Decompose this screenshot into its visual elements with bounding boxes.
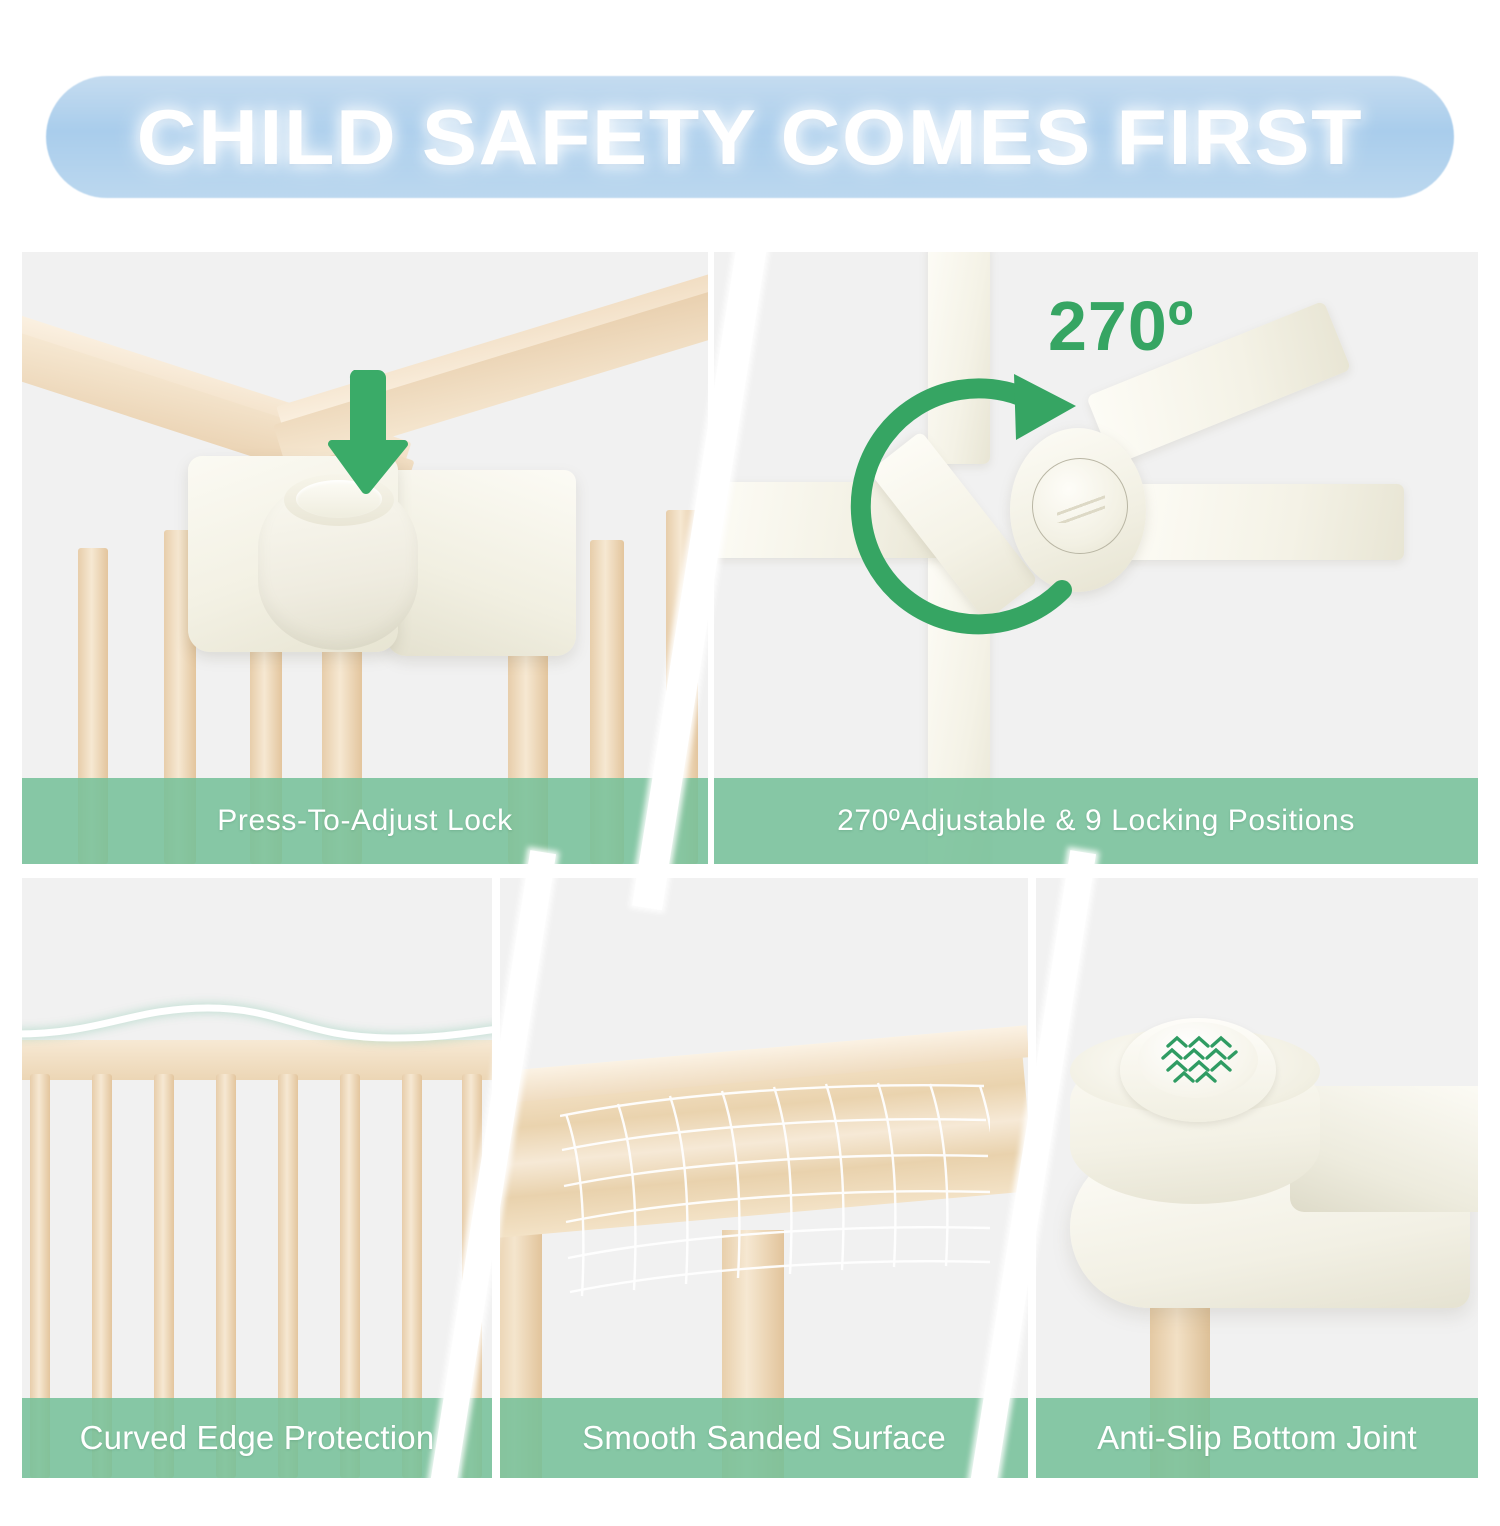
caption-text: Anti-Slip Bottom Joint	[1097, 1419, 1417, 1457]
caption-text: Press-To-Adjust Lock	[217, 804, 512, 838]
feature-row-bottom: Curved Edge Protection	[0, 878, 1500, 1478]
feature-panel-anti-slip-bottom-joint[interactable]: Anti-Slip Bottom Joint	[1036, 878, 1478, 1478]
panel-caption: Press-To-Adjust Lock	[22, 778, 708, 864]
panel-caption: Curved Edge Protection	[22, 1398, 492, 1478]
feature-panel-270-adjustable[interactable]: 270º 270ºAdjustable & 9 Locking Position…	[714, 252, 1478, 864]
degree-callout: 270º	[1048, 286, 1194, 366]
rotation-arrow-icon	[848, 356, 1138, 681]
panel-caption: Smooth Sanded Surface	[500, 1398, 1028, 1478]
wave-highlight-icon	[22, 982, 492, 1073]
feature-row-top: Press-To-Adjust Lock 270º 270ºAdjustable…	[0, 252, 1500, 864]
panel-caption: 270ºAdjustable & 9 Locking Positions	[714, 778, 1478, 864]
page-title: CHILD SAFETY COMES FIRST	[4, 76, 1496, 198]
joint-blade-right	[1124, 484, 1404, 560]
feature-panel-curved-edge-protection[interactable]: Curved Edge Protection	[22, 878, 492, 1478]
chevron-texture-icon	[1138, 1022, 1258, 1098]
panel-caption: Anti-Slip Bottom Joint	[1036, 1398, 1478, 1478]
header-banner: CHILD SAFETY COMES FIRST	[0, 0, 1500, 238]
caption-text: 270ºAdjustable & 9 Locking Positions	[837, 804, 1355, 838]
down-arrow-icon	[318, 364, 414, 505]
caption-text: Curved Edge Protection	[80, 1419, 435, 1457]
caption-text: Smooth Sanded Surface	[582, 1419, 946, 1457]
anti-slip-pad	[1138, 1022, 1258, 1098]
feature-panel-press-to-adjust-lock[interactable]: Press-To-Adjust Lock	[22, 252, 708, 864]
mesh-grid-icon	[560, 1064, 990, 1329]
feature-panel-smooth-sanded-surface[interactable]: Smooth Sanded Surface	[500, 878, 1028, 1478]
